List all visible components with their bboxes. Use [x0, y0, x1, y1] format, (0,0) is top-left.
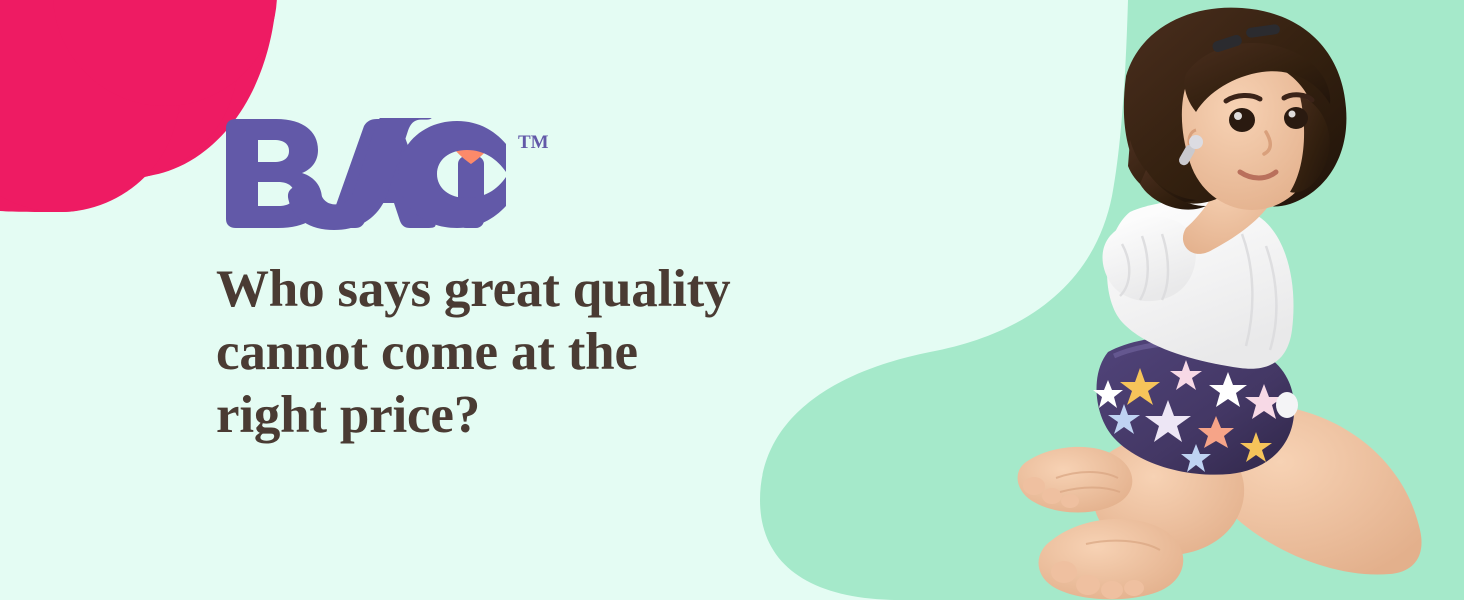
brand-logo[interactable]: TM [218, 118, 548, 230]
toddler-head [1124, 8, 1347, 210]
headline: Who says great quality cannot come at th… [216, 258, 856, 447]
trademark-mark: TM [518, 132, 548, 153]
logo-letter-c [398, 121, 506, 228]
headline-line-2: cannot come at the [216, 321, 856, 384]
headline-line-1: Who says great quality [216, 258, 856, 321]
diaper-snap-button [1276, 392, 1298, 418]
toddler-photo [990, 0, 1464, 600]
headline-line-3: right price? [216, 384, 856, 447]
promo-banner: TM Who says great quality cannot come at… [0, 0, 1464, 600]
